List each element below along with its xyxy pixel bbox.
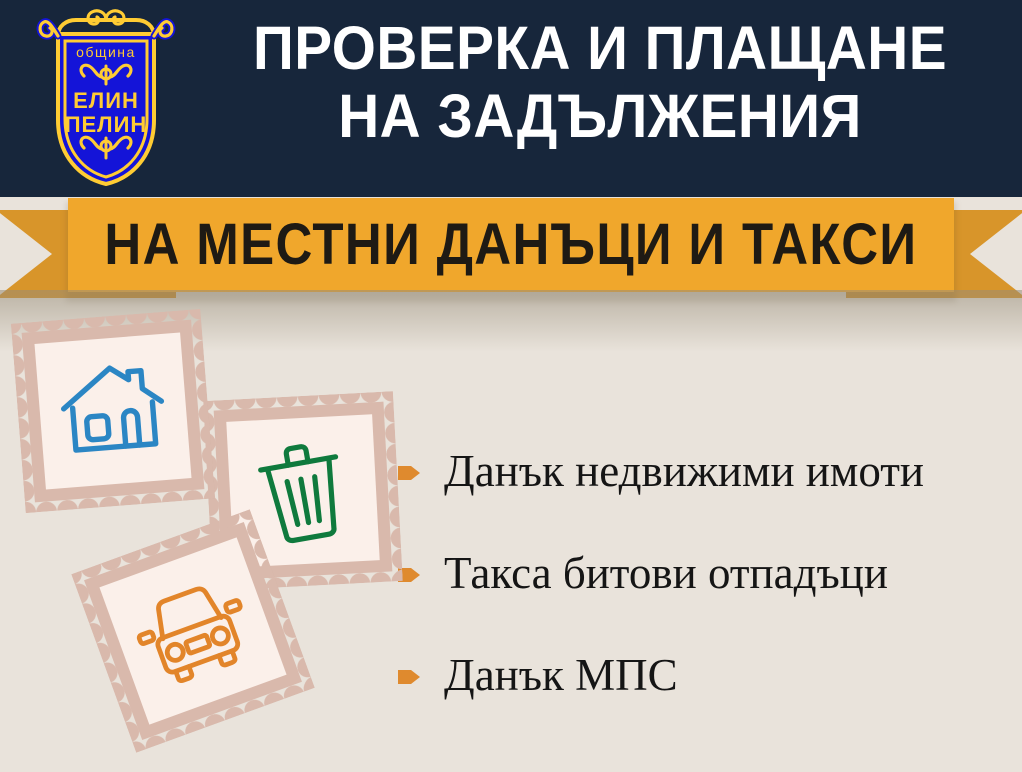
car-front-icon (124, 568, 261, 695)
ribbon-plate: НА МЕСТНИ ДАНЪЦИ И ТАКСИ (68, 198, 954, 292)
list-item[interactable]: Такса битови отпадъци (396, 522, 1016, 624)
house-icon (55, 357, 171, 465)
crest-municipality-word: община (76, 44, 136, 60)
poster-root: община ЕЛИН ПЕЛИН ПРОВЕРКА И ПЛАЩАНЕ НА … (0, 0, 1022, 772)
trash-bin-icon (252, 437, 353, 546)
crest-name-line1: ЕЛИН (73, 88, 139, 113)
list-item-label: Данък недвижими имоти (444, 446, 924, 496)
tax-type-list: Данък недвижими имоти Такса битови отпад… (396, 420, 1016, 726)
list-item[interactable]: Данък недвижими имоти (396, 420, 1016, 522)
list-item[interactable]: Данък МПС (396, 624, 1016, 726)
stamp-inner-surface (34, 332, 191, 489)
header-band: община ЕЛИН ПЕЛИН ПРОВЕРКА И ПЛАЩАНЕ НА … (0, 0, 1022, 197)
arrow-bullet-icon (396, 664, 422, 690)
header-title-block: ПРОВЕРКА И ПЛАЩАНЕ НА ЗАДЪЛЖЕНИЯ (190, 14, 1010, 150)
ribbon-banner: НА МЕСТНИ ДАНЪЦИ И ТАКСИ (0, 196, 1022, 306)
coat-of-arms: община ЕЛИН ПЕЛИН (36, 8, 176, 190)
list-item-label: Данък МПС (444, 650, 678, 700)
stamp-card-property-tax (11, 309, 215, 513)
arrow-bullet-icon (396, 460, 422, 486)
crest-name-line2: ПЕЛИН (65, 112, 148, 137)
page-title-line-2: НА ЗАДЪЛЖЕНИЯ (219, 82, 982, 150)
list-item-label: Такса битови отпадъци (444, 548, 888, 598)
ribbon-label: НА МЕСТНИ ДАНЪЦИ И ТАКСИ (105, 215, 918, 275)
page-title-line-1: ПРОВЕРКА И ПЛАЩАНЕ (219, 14, 982, 82)
